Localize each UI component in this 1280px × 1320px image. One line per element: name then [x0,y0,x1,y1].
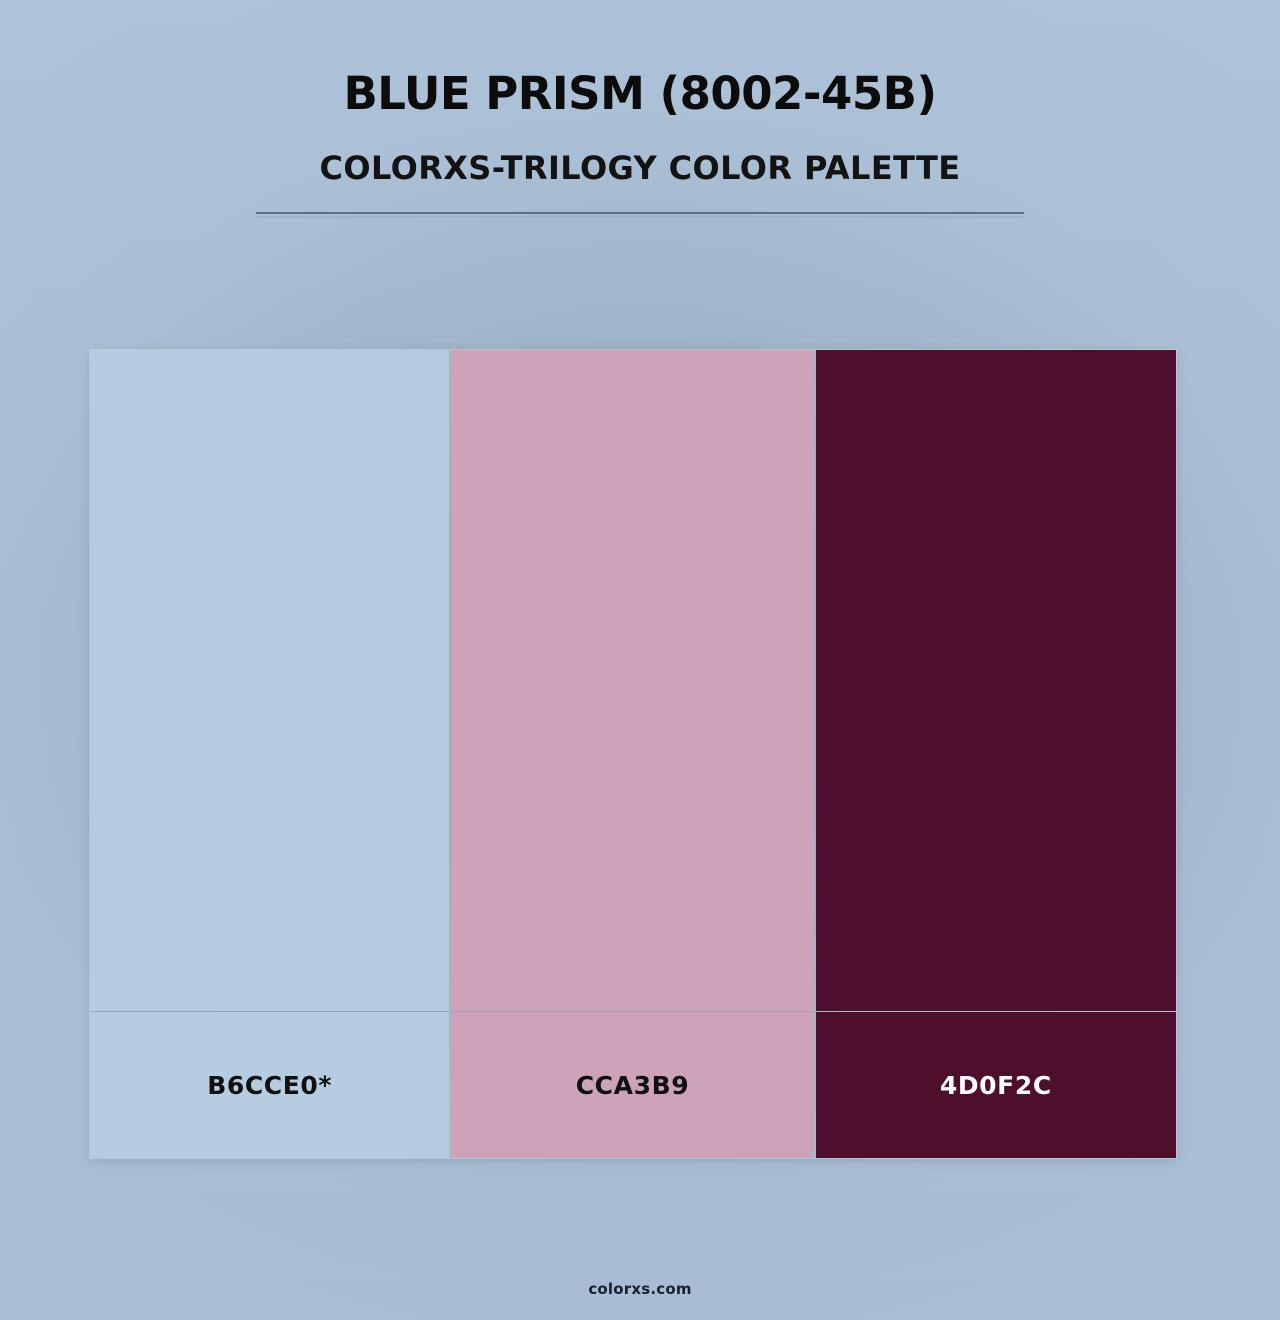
header-divider [256,212,1024,218]
color-swatch-3-label: 4D0F2C [816,1012,1176,1158]
divider-line-dark [256,212,1024,214]
color-swatch-2-fill [451,350,813,1011]
color-swatch-2[interactable]: CCA3B9 [451,350,813,1158]
palette-page: BLUE PRISM (8002-45B) COLORXS-TRILOGY CO… [0,0,1280,1320]
color-swatch-1-fill [90,350,449,1011]
page-header: BLUE PRISM (8002-45B) COLORXS-TRILOGY CO… [0,0,1280,218]
color-swatch-2-label: CCA3B9 [451,1012,813,1158]
color-palette-strip: B6CCE0* CCA3B9 4D0F2C [90,350,1176,1158]
page-title: BLUE PRISM (8002-45B) [0,70,1280,119]
divider-line-light [256,216,1024,218]
color-swatch-3[interactable]: 4D0F2C [816,350,1176,1158]
color-swatch-1-label: B6CCE0* [90,1012,449,1158]
color-swatch-1[interactable]: B6CCE0* [90,350,449,1158]
footer-site-name: colorxs.com [0,1280,1280,1298]
color-swatch-3-fill [816,350,1176,1011]
page-subtitle: COLORXS-TRILOGY COLOR PALETTE [0,119,1280,186]
